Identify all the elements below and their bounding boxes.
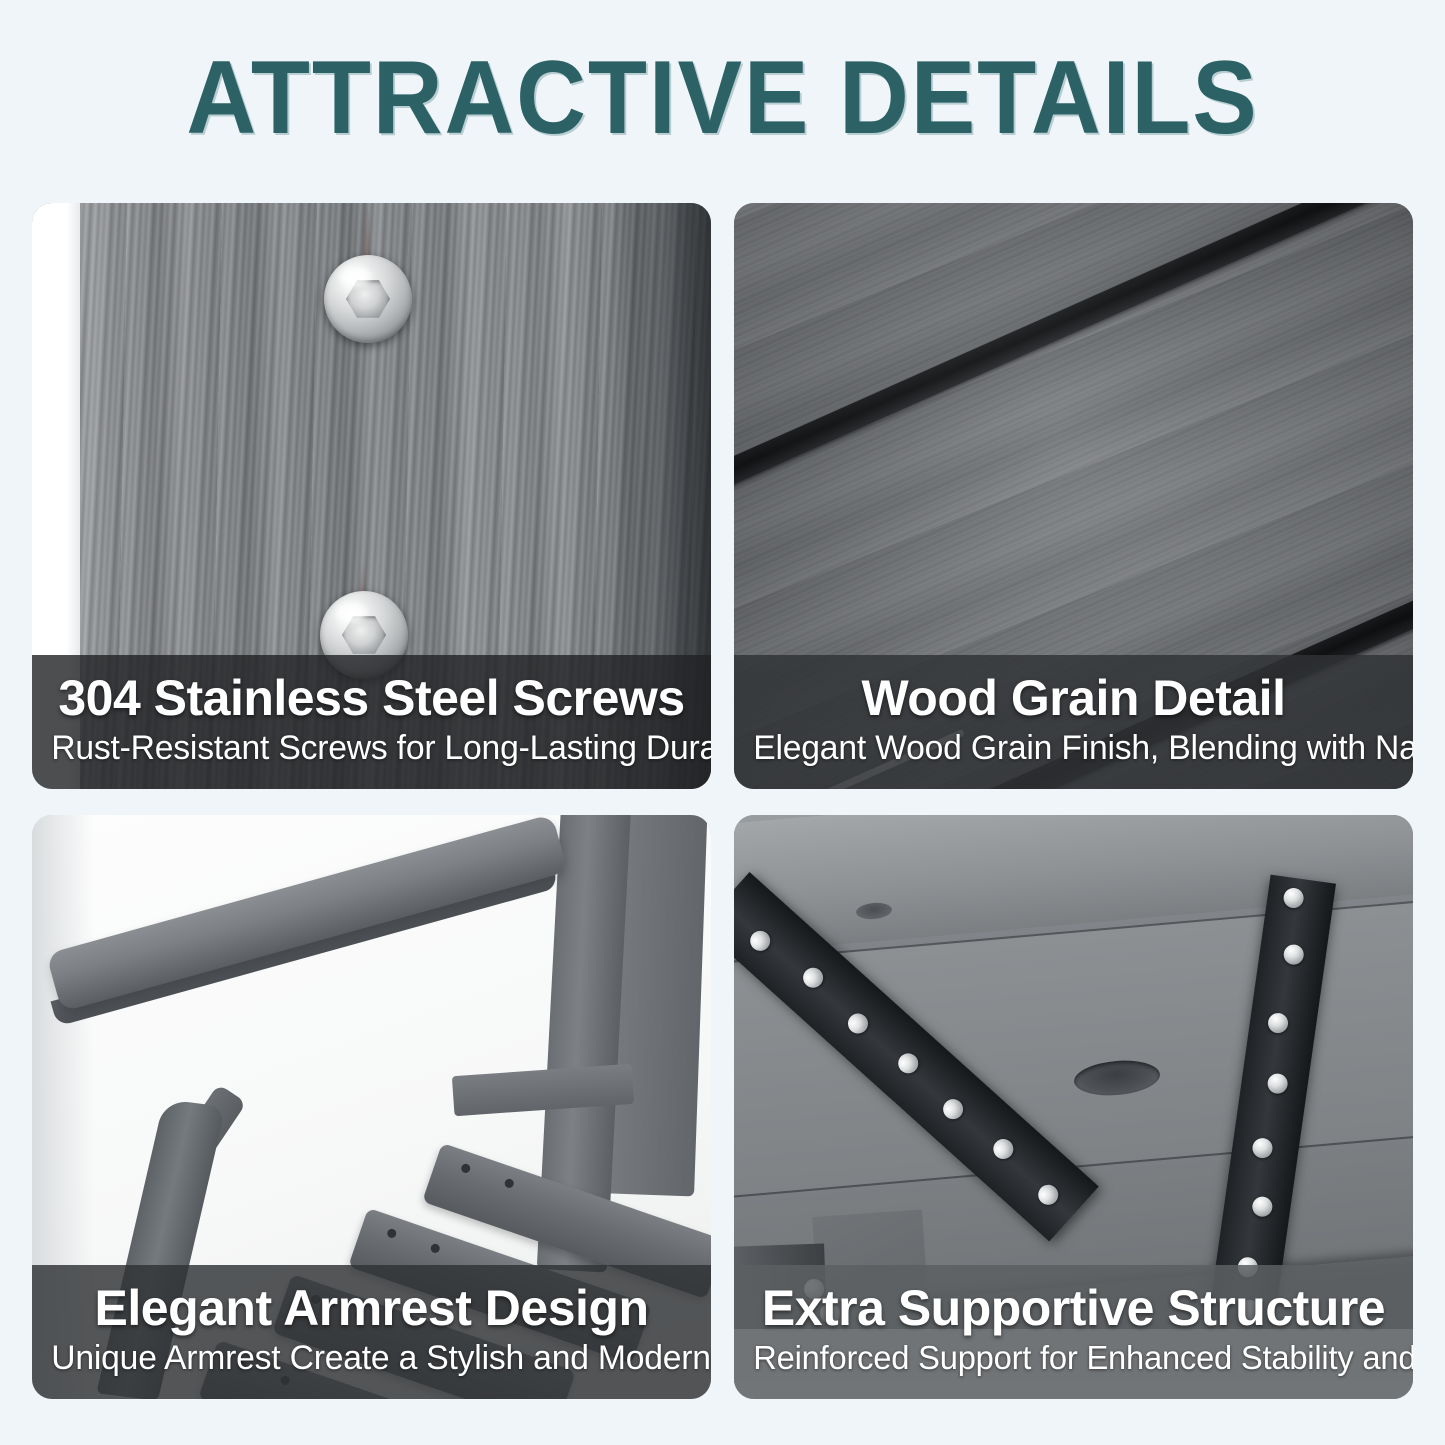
screw-hole	[430, 1243, 441, 1254]
stainless-screw-top	[324, 255, 412, 343]
panel-title: 304 Stainless Steel Screws	[48, 669, 695, 727]
bolt	[939, 1095, 967, 1123]
bolt	[746, 927, 774, 955]
feature-panel-grid: 304 Stainless Steel Screws Rust-Resistan…	[32, 203, 1413, 1399]
panel-subtitle: Reinforced Support for Enhanced Stabilit…	[753, 1337, 1394, 1379]
bolt	[1282, 887, 1305, 910]
feature-panel-elegant-armrest-design[interactable]: Elegant Armrest Design Unique Armrest Cr…	[32, 815, 711, 1399]
feature-panel-wood-grain-detail[interactable]: Wood Grain Detail Elegant Wood Grain Fin…	[734, 203, 1413, 789]
feature-panel-stainless-steel-screws[interactable]: 304 Stainless Steel Screws Rust-Resistan…	[32, 203, 711, 789]
panel-title: Wood Grain Detail	[750, 669, 1397, 727]
screw-hole	[504, 1178, 515, 1189]
screw-hole	[460, 1163, 471, 1174]
panel-caption: Wood Grain Detail Elegant Wood Grain Fin…	[734, 655, 1413, 789]
panel-caption: Extra Supportive Structure Reinforced Su…	[734, 1265, 1413, 1399]
panel-title: Extra Supportive Structure	[750, 1279, 1397, 1337]
panel-caption: 304 Stainless Steel Screws Rust-Resistan…	[32, 655, 711, 789]
bolt	[799, 964, 827, 992]
feature-panel-extra-supportive-structure[interactable]: Extra Supportive Structure Reinforced Su…	[734, 815, 1413, 1399]
panel-subtitle: Elegant Wood Grain Finish, Blending with…	[753, 727, 1394, 769]
bolt	[894, 1049, 922, 1077]
infographic-page: ATTRACTIVE DETAILS 304 Stainless Steel S…	[0, 0, 1445, 1445]
panel-title: Elegant Armrest Design	[48, 1279, 695, 1337]
page-title: ATTRACTIVE DETAILS	[51, 42, 1395, 154]
bolt	[989, 1135, 1017, 1163]
bolt	[1282, 943, 1305, 966]
screw-hole	[386, 1228, 397, 1239]
panel-subtitle: Rust-Resistant Screws for Long-Lasting D…	[51, 727, 692, 769]
bolt	[844, 1009, 872, 1037]
panel-caption: Elegant Armrest Design Unique Armrest Cr…	[32, 1265, 711, 1399]
panel-subtitle: Unique Armrest Create a Stylish and Mode…	[51, 1337, 692, 1379]
bolt	[1251, 1195, 1274, 1218]
bolt	[1251, 1137, 1274, 1160]
bolt	[1266, 1072, 1289, 1095]
bolt	[1034, 1181, 1062, 1209]
bolt	[1267, 1012, 1290, 1035]
